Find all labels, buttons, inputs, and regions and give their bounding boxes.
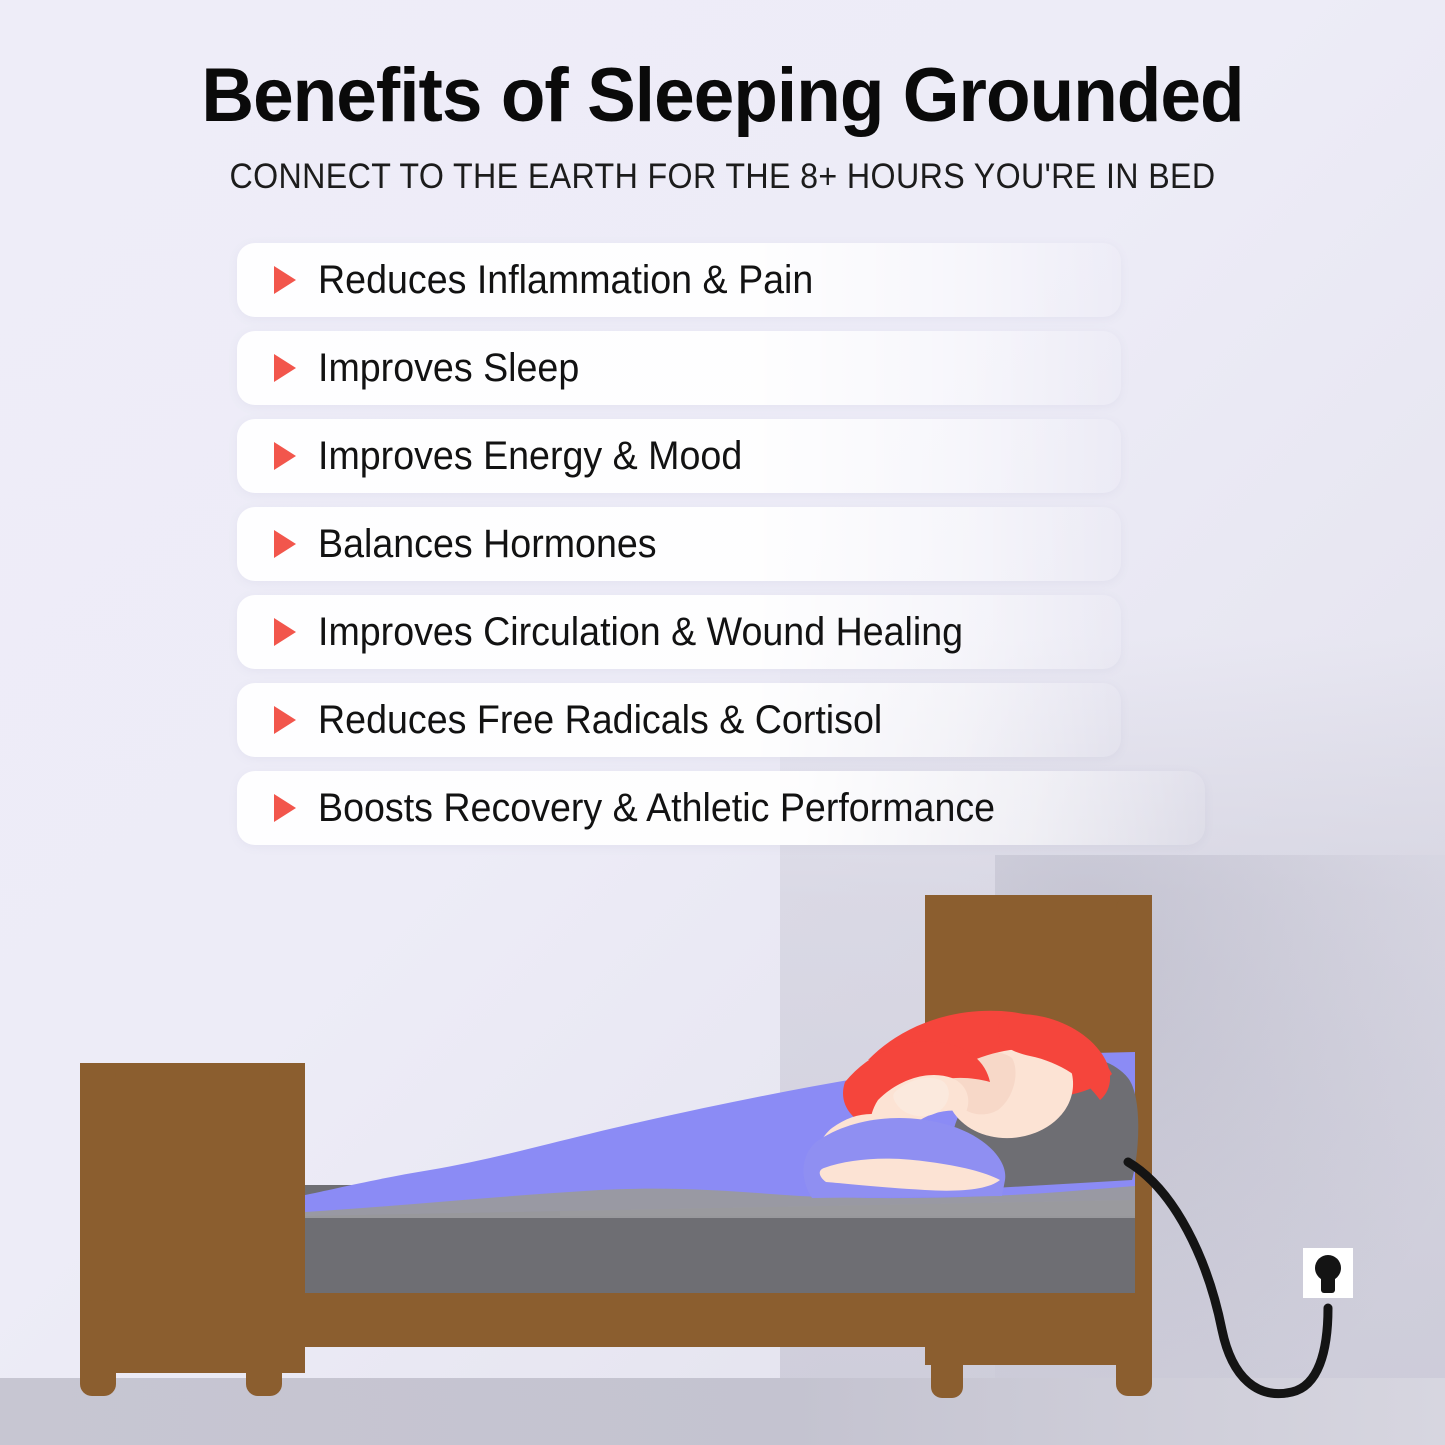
benefit-label: Reduces Inflammation & Pain <box>318 258 813 303</box>
triangle-right-icon <box>274 442 296 470</box>
benefit-label: Improves Sleep <box>318 346 579 391</box>
benefit-label: Balances Hormones <box>318 522 657 567</box>
floor-shade <box>0 1378 1445 1445</box>
benefit-content: Reduces Free Radicals & Cortisol <box>237 698 918 743</box>
benefit-label: Boosts Recovery & Athletic Performance <box>318 786 995 831</box>
triangle-right-icon <box>274 706 296 734</box>
benefit-label: Improves Circulation & Wound Healing <box>318 610 963 655</box>
benefit-content: Balances Hormones <box>237 522 678 567</box>
bed-side-rail <box>246 1293 1152 1347</box>
grounding-cord <box>1128 1162 1328 1394</box>
benefit-content: Improves Sleep <box>237 346 596 391</box>
triangle-right-icon <box>274 530 296 558</box>
infographic-poster: Benefits of Sleeping Grounded CONNECT TO… <box>0 0 1445 1445</box>
triangle-right-icon <box>274 618 296 646</box>
benefit-label: Improves Energy & Mood <box>318 434 742 479</box>
benefit-content: Improves Energy & Mood <box>237 434 769 479</box>
outlet-plug-body <box>1321 1275 1335 1293</box>
triangle-right-icon <box>274 794 296 822</box>
wall-outlet[interactable] <box>1303 1248 1353 1298</box>
benefit-content: Improves Circulation & Wound Healing <box>237 610 1004 655</box>
bed-leg-middle <box>931 1340 963 1398</box>
benefit-content: Boosts Recovery & Athletic Performance <box>237 786 1038 831</box>
benefit-content: Reduces Inflammation & Pain <box>237 258 845 303</box>
triangle-right-icon <box>274 266 296 294</box>
triangle-right-icon <box>274 354 296 382</box>
bed-leg-foot-left <box>80 1300 116 1396</box>
benefit-label: Reduces Free Radicals & Cortisol <box>318 698 882 743</box>
